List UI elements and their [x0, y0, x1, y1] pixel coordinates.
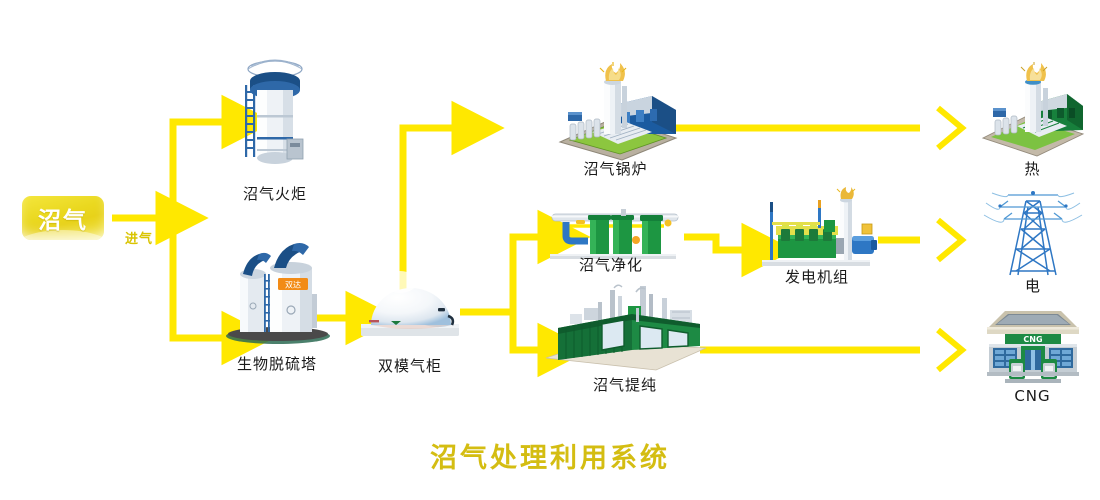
chevron-cng-icon: [938, 330, 962, 370]
output-heat[interactable]: 热: [975, 62, 1090, 182]
chevron-heat-icon: [938, 108, 962, 148]
source-chip-label: 沼气: [22, 196, 104, 240]
desulfurization-tower-icon: 双达: [212, 240, 342, 345]
source-flow-label: 进气: [104, 228, 174, 247]
node-upgrading[interactable]: 沼气提纯: [540, 284, 710, 394]
node-desulfur[interactable]: 双达 生物脱硫塔: [212, 240, 342, 380]
generator-set-icon: [752, 186, 882, 276]
output-cng-label: CNG: [975, 387, 1090, 405]
node-purification-label: 沼气净化: [536, 254, 686, 275]
transmission-tower-icon: [978, 185, 1088, 277]
node-boiler-label: 沼气锅炉: [548, 158, 683, 179]
cng-station-icon: CNG: [975, 305, 1090, 387]
heat-plant-icon: [975, 62, 1090, 162]
source-chip: 沼气: [22, 196, 104, 240]
node-flare[interactable]: 沼气火炬: [215, 55, 335, 215]
output-cng[interactable]: CNG: [975, 305, 1090, 410]
output-heat-label: 热: [975, 158, 1090, 179]
node-upgrading-label: 沼气提纯: [540, 374, 710, 395]
node-desulfur-label: 生物脱硫塔: [212, 353, 342, 374]
node-generator-label: 发电机组: [752, 266, 882, 287]
diagram-canvas: 沼气 进气: [0, 0, 1100, 500]
node-holder-label: 双模气柜: [355, 355, 465, 376]
biogas-boiler-icon: [548, 62, 683, 162]
node-holder[interactable]: 双模气柜: [355, 258, 465, 378]
dome-gas-holder-icon: [355, 258, 465, 348]
node-flare-label: 沼气火炬: [215, 183, 335, 204]
output-power-label: 电: [978, 275, 1088, 296]
flare-tower-icon: [215, 55, 335, 173]
node-generator[interactable]: 发电机组: [752, 186, 882, 296]
link-purification-to-generator: [684, 237, 752, 250]
node-boiler[interactable]: 沼气锅炉: [548, 62, 683, 182]
svg-text:双达: 双达: [285, 280, 301, 290]
node-purification[interactable]: 沼气净化: [536, 196, 686, 286]
chevron-power-icon: [938, 220, 962, 260]
page-title: 沼气处理利用系统: [0, 436, 1100, 475]
output-power[interactable]: 电: [978, 185, 1088, 300]
upgrading-plant-icon: [540, 284, 710, 379]
svg-text:CNG: CNG: [1023, 335, 1042, 344]
